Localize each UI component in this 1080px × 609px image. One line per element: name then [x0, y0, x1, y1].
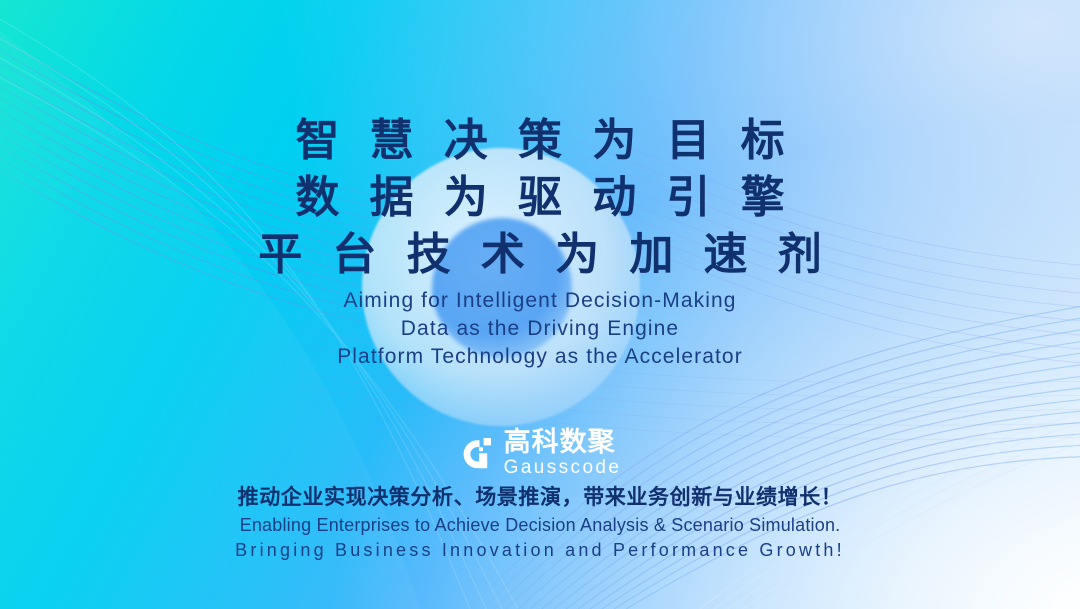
logo-name-cn: 高科数聚 — [504, 428, 616, 457]
subheadline-line-3: Platform Technology as the Accelerator — [0, 343, 1080, 371]
subheadline: Aiming for Intelligent Decision-Making D… — [0, 287, 1080, 371]
logo-wordmark: 高科数聚 Gausscode — [504, 428, 622, 478]
subheadline-line-2: Data as the Driving Engine — [0, 315, 1080, 343]
footer-line-en-1: Enabling Enterprises to Achieve Decision… — [0, 513, 1080, 538]
banner-content: 智 慧 决 策 为 目 标 数 据 为 驱 动 引 擎 平 台 技 术 为 加 … — [0, 0, 1080, 609]
headline-line-1: 智 慧 决 策 为 目 标 — [0, 112, 1080, 169]
headline-line-2: 数 据 为 驱 动 引 擎 — [0, 169, 1080, 226]
headline-line-3: 平 台 技 术 为 加 速 剂 — [0, 226, 1080, 283]
company-logo: 高科数聚 Gausscode — [0, 428, 1080, 478]
logo-name-en: Gausscode — [504, 457, 622, 478]
footer-line-en-2: Bringing Business Innovation and Perform… — [0, 538, 1080, 563]
gausscode-logo-mark-icon — [459, 434, 495, 472]
footer-line-cn: 推动企业实现决策分析、场景推演，带来业务创新与业绩增长！ — [0, 483, 1080, 513]
footer-tagline: 推动企业实现决策分析、场景推演，带来业务创新与业绩增长！ Enabling En… — [0, 483, 1080, 563]
subheadline-line-1: Aiming for Intelligent Decision-Making — [0, 287, 1080, 315]
promotional-banner: 智 慧 决 策 为 目 标 数 据 为 驱 动 引 擎 平 台 技 术 为 加 … — [0, 0, 1080, 609]
headline: 智 慧 决 策 为 目 标 数 据 为 驱 动 引 擎 平 台 技 术 为 加 … — [0, 112, 1080, 283]
